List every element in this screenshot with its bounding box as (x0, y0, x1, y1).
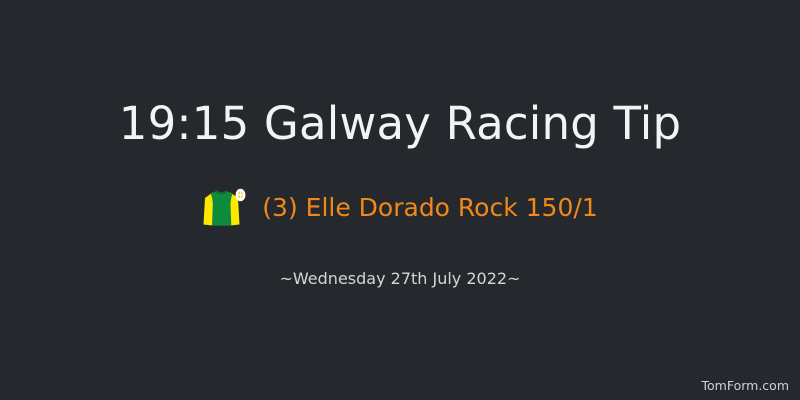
footer-brand: TomForm.com (702, 378, 790, 394)
race-date: ~Wednesday 27th July 2022~ (0, 268, 800, 290)
tip-selection: (3) Elle Dorado Rock 150/1 (262, 192, 597, 224)
tip-row: (3) Elle Dorado Rock 150/1 (0, 186, 800, 230)
racing-tip-card: 19:15 Galway Racing Tip (3) Elle Dorado … (0, 0, 800, 400)
page-title: 19:15 Galway Racing Tip (0, 96, 800, 152)
jockey-silks-icon (202, 186, 248, 230)
